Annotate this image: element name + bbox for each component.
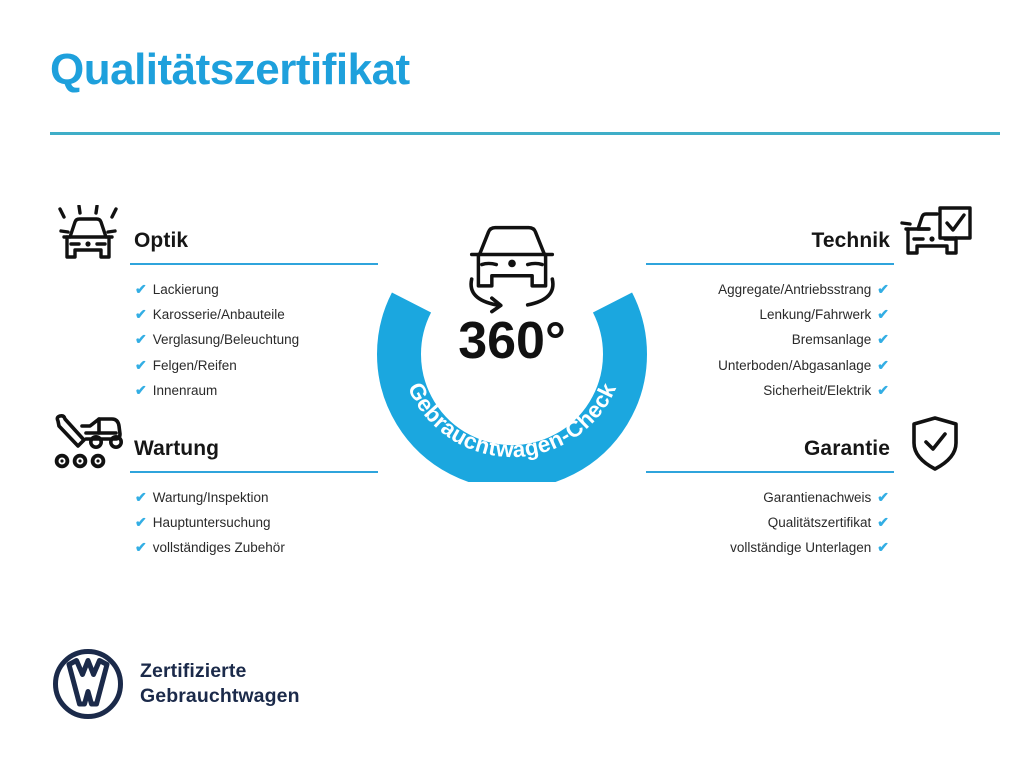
list-item-label: vollständiges Zubehör (153, 540, 285, 555)
list-item-label: vollständige Unterlagen (730, 540, 871, 555)
section-optik: Optik ✔Lackierung ✔Karosserie/Anbauteile… (50, 205, 378, 403)
list-item-label: Aggregate/Antriebsstrang (718, 282, 871, 297)
check-icon: ✔ (877, 382, 889, 398)
list-item: Aggregate/Antriebsstrang✔ (644, 277, 974, 302)
section-title-optik: Optik (134, 229, 188, 253)
wrench-car-service-icon (50, 413, 128, 475)
section-header-wartung: Wartung (50, 413, 378, 475)
list-item-label: Bremsanlage (792, 332, 872, 347)
list-item: ✔Verglasung/Beleuchtung (50, 327, 378, 352)
list-item-label: Verglasung/Beleuchtung (153, 332, 299, 347)
check-icon: ✔ (135, 382, 147, 398)
section-title-technik: Technik (812, 229, 891, 253)
section-header-technik: Technik (644, 205, 974, 267)
check-icon: ✔ (877, 281, 889, 297)
list-item: Sicherheit/Elektrik✔ (644, 378, 974, 403)
check-icon: ✔ (877, 514, 889, 530)
list-item: ✔Innenraum (50, 378, 378, 403)
list-item: ✔vollständiges Zubehör (50, 535, 378, 560)
shield-check-icon (896, 413, 974, 475)
check-icon: ✔ (135, 357, 147, 373)
list-item-label: Garantienachweis (763, 490, 871, 505)
section-divider-wartung (130, 471, 378, 473)
section-title-wartung: Wartung (134, 437, 219, 461)
section-header-garantie: Garantie (644, 413, 974, 475)
checklist-wartung: ✔Wartung/Inspektion ✔Hauptuntersuchung ✔… (50, 485, 378, 561)
list-item-label: Qualitätszertifikat (768, 515, 872, 530)
check-icon: ✔ (135, 306, 147, 322)
list-item: vollständige Unterlagen✔ (644, 535, 974, 560)
list-item: ✔Hauptuntersuchung (50, 510, 378, 535)
section-title-garantie: Garantie (804, 437, 890, 461)
list-item-label: Karosserie/Anbauteile (153, 307, 285, 322)
check-icon: ✔ (877, 357, 889, 373)
list-item-label: Felgen/Reifen (153, 358, 237, 373)
list-item: ✔Lackierung (50, 277, 378, 302)
checklist-technik: Aggregate/Antriebsstrang✔ Lenkung/Fahrwe… (644, 277, 974, 403)
check-icon: ✔ (135, 539, 147, 555)
checklist-optik: ✔Lackierung ✔Karosserie/Anbauteile ✔Verg… (50, 277, 378, 403)
list-item: Qualitätszertifikat✔ (644, 510, 974, 535)
section-wartung: Wartung ✔Wartung/Inspektion ✔Hauptunters… (50, 413, 378, 561)
section-header-optik: Optik (50, 205, 378, 267)
check-icon: ✔ (135, 281, 147, 297)
footer-logo-text: Zertifizierte Gebrauchtwagen (140, 659, 300, 709)
list-item-label: Lenkung/Fahrwerk (759, 307, 871, 322)
car-front-rotate-360-icon (471, 228, 553, 312)
check-icon: ✔ (877, 306, 889, 322)
list-item: Unterboden/Abgasanlage✔ (644, 353, 974, 378)
list-item: Lenkung/Fahrwerk✔ (644, 302, 974, 327)
footer-logo: Zertifizierte Gebrauchtwagen (52, 648, 300, 720)
list-item: Bremsanlage✔ (644, 327, 974, 352)
section-divider-garantie (646, 471, 894, 473)
list-item-label: Lackierung (153, 282, 219, 297)
list-item: Garantienachweis✔ (644, 485, 974, 510)
list-item-label: Sicherheit/Elektrik (763, 383, 871, 398)
list-item: ✔Karosserie/Anbauteile (50, 302, 378, 327)
list-item: ✔Felgen/Reifen (50, 353, 378, 378)
check-icon: ✔ (877, 489, 889, 505)
list-item-label: Unterboden/Abgasanlage (718, 358, 871, 373)
list-item: ✔Wartung/Inspektion (50, 485, 378, 510)
car-front-shine-icon (50, 205, 128, 267)
section-divider-optik (130, 263, 378, 265)
page-title: Qualitätszertifikat (50, 47, 410, 93)
list-item-label: Wartung/Inspektion (153, 490, 269, 505)
volkswagen-logo (52, 648, 124, 720)
list-item-label: Innenraum (153, 383, 218, 398)
check-icon: ✔ (135, 489, 147, 505)
checklist-garantie: Garantienachweis✔ Qualitätszertifikat✔ v… (644, 485, 974, 561)
check-icon: ✔ (877, 331, 889, 347)
footer-logo-line2: Gebrauchtwagen (140, 684, 300, 709)
check-icon: ✔ (135, 331, 147, 347)
section-technik: Technik Aggregate/Antriebsstrang✔ Lenkun… (644, 205, 974, 403)
car-front-checkbox-icon (896, 205, 974, 267)
badge-360-gebrauchtwagen-check: Gebrauchtwagen-Check 360° (374, 192, 650, 482)
footer-logo-line1: Zertifizierte (140, 659, 300, 684)
check-icon: ✔ (877, 539, 889, 555)
section-divider-technik (646, 263, 894, 265)
title-divider (50, 132, 1000, 135)
list-item-label: Hauptuntersuchung (153, 515, 271, 530)
section-garantie: Garantie Garantienachweis✔ Qualitätszert… (644, 413, 974, 561)
check-icon: ✔ (135, 514, 147, 530)
badge-center-label: 360° (458, 312, 566, 370)
